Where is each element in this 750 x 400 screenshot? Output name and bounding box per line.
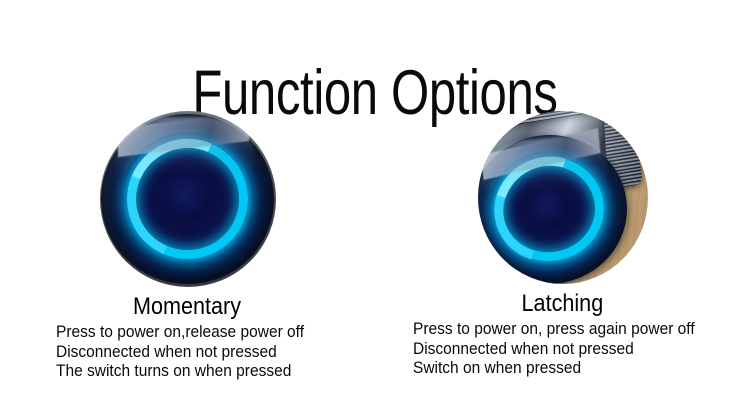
description-line: Disconnected when not pressed [413, 340, 695, 360]
option-caption-latching: Latching [522, 291, 604, 317]
push-button-body[interactable] [101, 114, 273, 285]
description-line: Switch on when pressed [413, 359, 695, 379]
led-ring-core [526, 188, 572, 232]
description-line: The switch turns on when pressed [56, 362, 304, 382]
option-description-list-momentary: Press to power on,release power off Disc… [56, 323, 320, 382]
function-options-columns: Momentary Press to power on,release powe… [0, 108, 750, 400]
description-line: Disconnected when not pressed [56, 343, 304, 363]
led-ring-core [164, 176, 211, 223]
description-line: Press to power on, press again power off [413, 320, 695, 340]
momentary-button-photo [100, 111, 276, 287]
latching-button-photo [478, 111, 648, 284]
option-description-list-latching: Press to power on, press again power off… [413, 320, 713, 379]
option-card-momentary: Momentary Press to power on,release powe… [0, 108, 375, 400]
option-card-latching: Latching Press to power on, press again … [375, 108, 750, 400]
description-line: Press to power on,release power off [56, 323, 304, 343]
option-caption-momentary: Momentary [133, 294, 241, 320]
